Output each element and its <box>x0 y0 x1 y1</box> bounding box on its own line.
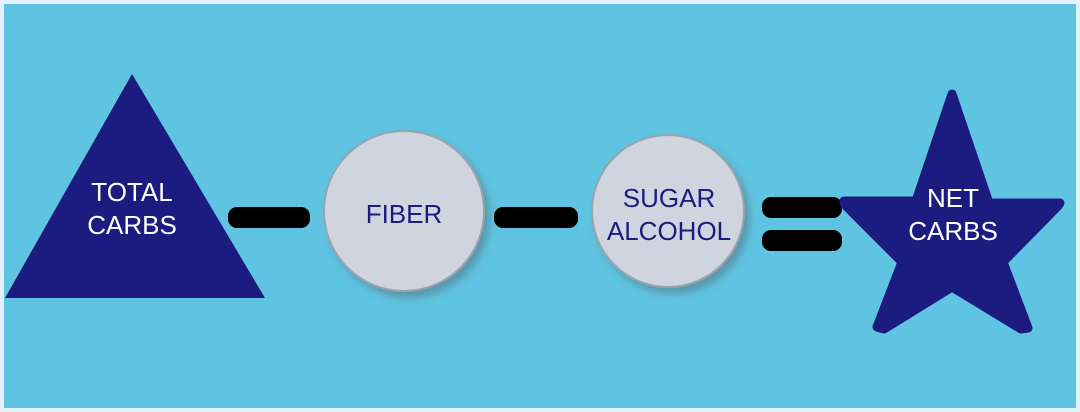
shape-triangle-total-carbs[interactable] <box>5 74 265 298</box>
equals-bar-bottom <box>762 230 842 251</box>
diagram-graphics <box>0 0 1080 412</box>
shape-star-net-carbs[interactable] <box>844 94 1060 329</box>
operator-minus-1 <box>228 207 310 228</box>
shape-circle-fiber[interactable] <box>324 131 484 291</box>
operator-minus-2 <box>494 207 578 228</box>
diagram-canvas: TOTAL CARBS FIBER SUGAR ALCOHOL NET CARB… <box>0 0 1080 412</box>
operator-equals-1 <box>762 197 842 251</box>
equals-bar-top <box>762 197 842 218</box>
shape-circle-sugar-alcohol[interactable] <box>592 135 744 287</box>
